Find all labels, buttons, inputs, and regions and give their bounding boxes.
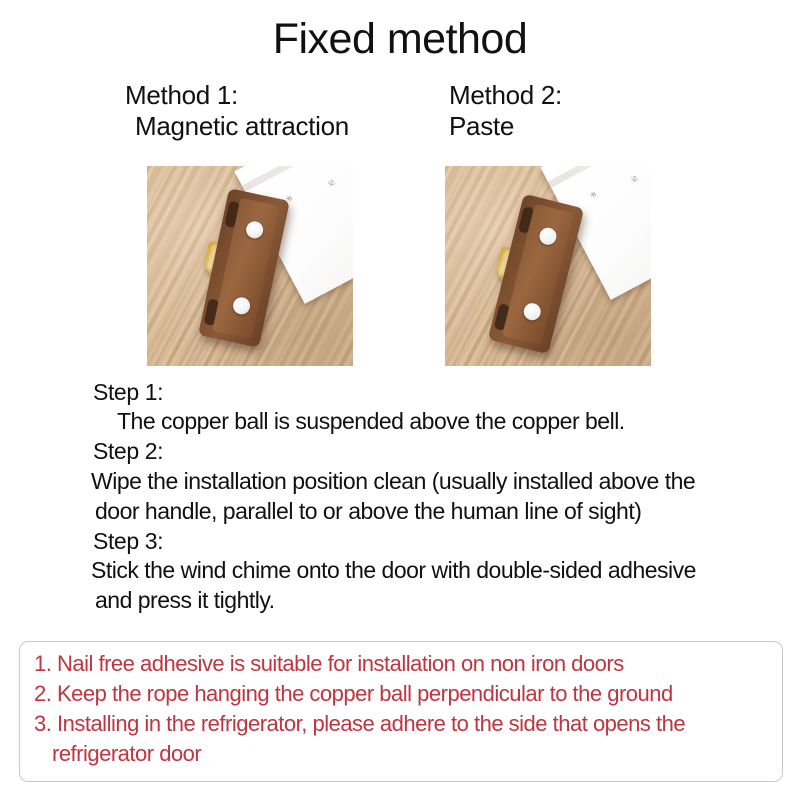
step-2-line-2: door handle, parallel to or above the hu… (0, 497, 800, 527)
methods-row: Method 1: Magnetic attraction Method 2: … (0, 80, 800, 380)
notice-item-3-text-continued: refrigerator door (34, 739, 772, 769)
step-3-line-2: and press it tightly. (0, 586, 800, 616)
step-1-label: Step 1: (0, 378, 800, 407)
notice-item-2-number: 2. (34, 681, 51, 706)
method-1-subtitle: Magnetic attraction (125, 111, 425, 142)
method-2-heading: Method 2: (449, 80, 749, 111)
notice-item-2: 2. Keep the rope hanging the copper ball… (34, 679, 772, 709)
step-2-label: Step 2: (0, 437, 800, 466)
method-1-product-photo: 书 记 (147, 166, 353, 366)
notice-item-3: 3. Installing in the refrigerator, pleas… (34, 709, 772, 769)
method-1-heading: Method 1: (125, 80, 425, 111)
product-instruction-page: { "page": { "title": "Fixed method", "ba… (0, 0, 800, 800)
step-2-line-1: Wipe the installation position clean (us… (0, 467, 800, 497)
step-1-line-1: The copper ball is suspended above the c… (0, 407, 800, 437)
step-3-line-1: Stick the wind chime onto the door with … (0, 556, 800, 586)
notice-item-3-number: 3. (34, 711, 51, 736)
page-title: Fixed method (0, 0, 800, 61)
notice-item-3-text: Installing in the refrigerator, please a… (57, 711, 685, 736)
warning-notice-box: 1. Nail free adhesive is suitable for in… (19, 641, 783, 782)
notice-item-1-text: Nail free adhesive is suitable for insta… (57, 651, 624, 676)
method-2-product-photo: 书 记 (445, 166, 651, 366)
installation-steps: Step 1: The copper ball is suspended abo… (0, 378, 800, 616)
method-2-subtitle: Paste (449, 111, 749, 142)
method-2-column: Method 2: Paste (449, 80, 749, 141)
notice-item-1-number: 1. (34, 651, 51, 676)
method-1-column: Method 1: Magnetic attraction (125, 80, 425, 141)
notice-item-1: 1. Nail free adhesive is suitable for in… (34, 649, 772, 679)
step-3-label: Step 3: (0, 527, 800, 556)
notice-item-2-text: Keep the rope hanging the copper ball pe… (57, 681, 673, 706)
